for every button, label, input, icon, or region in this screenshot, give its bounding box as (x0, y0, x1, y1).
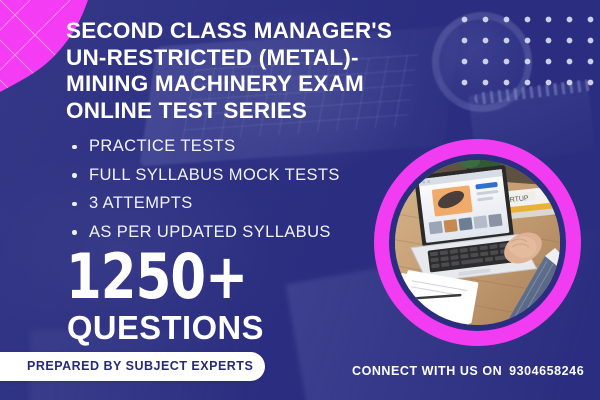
promo-banner: SECOND CLASS MANAGER'S UN-RESTRICTED (ME… (0, 0, 600, 400)
feature-list: PRACTICE TESTS FULL SYLLABUS MOCK TESTS … (70, 132, 340, 246)
headline-line-2: UN-RESTRICTED (METAL)- (66, 45, 456, 72)
status-badge: PREPARED BY SUBJECT EXPERTS (0, 352, 265, 381)
page-title: SECOND CLASS MANAGER'S UN-RESTRICTED (ME… (66, 18, 456, 124)
list-item: FULL SYLLABUS MOCK TESTS (70, 161, 340, 190)
question-count: 1250+ (66, 246, 247, 308)
contact-phone: 9304658246 (509, 364, 584, 378)
question-count-label: QUESTIONS (67, 310, 264, 346)
dot-grid-pattern (454, 9, 600, 95)
list-item: 3 ATTEMPTS (70, 189, 340, 218)
status-badge-label: PREPARED BY SUBJECT EXPERTS (27, 359, 253, 373)
headline-line-3: MINING MACHINERY EXAM (66, 71, 456, 98)
list-item: PRACTICE TESTS (70, 132, 340, 161)
contact-prefix: CONNECT WITH US ON (352, 364, 502, 378)
headline-line-1: SECOND CLASS MANAGER'S (66, 18, 456, 45)
avatar-photo: STARTUP (395, 160, 560, 325)
headline-line-4: ONLINE TEST SERIES (66, 98, 456, 125)
avatar: STARTUP (374, 139, 581, 346)
contact-line: CONNECT WITH US ON9304658246 (352, 364, 584, 378)
